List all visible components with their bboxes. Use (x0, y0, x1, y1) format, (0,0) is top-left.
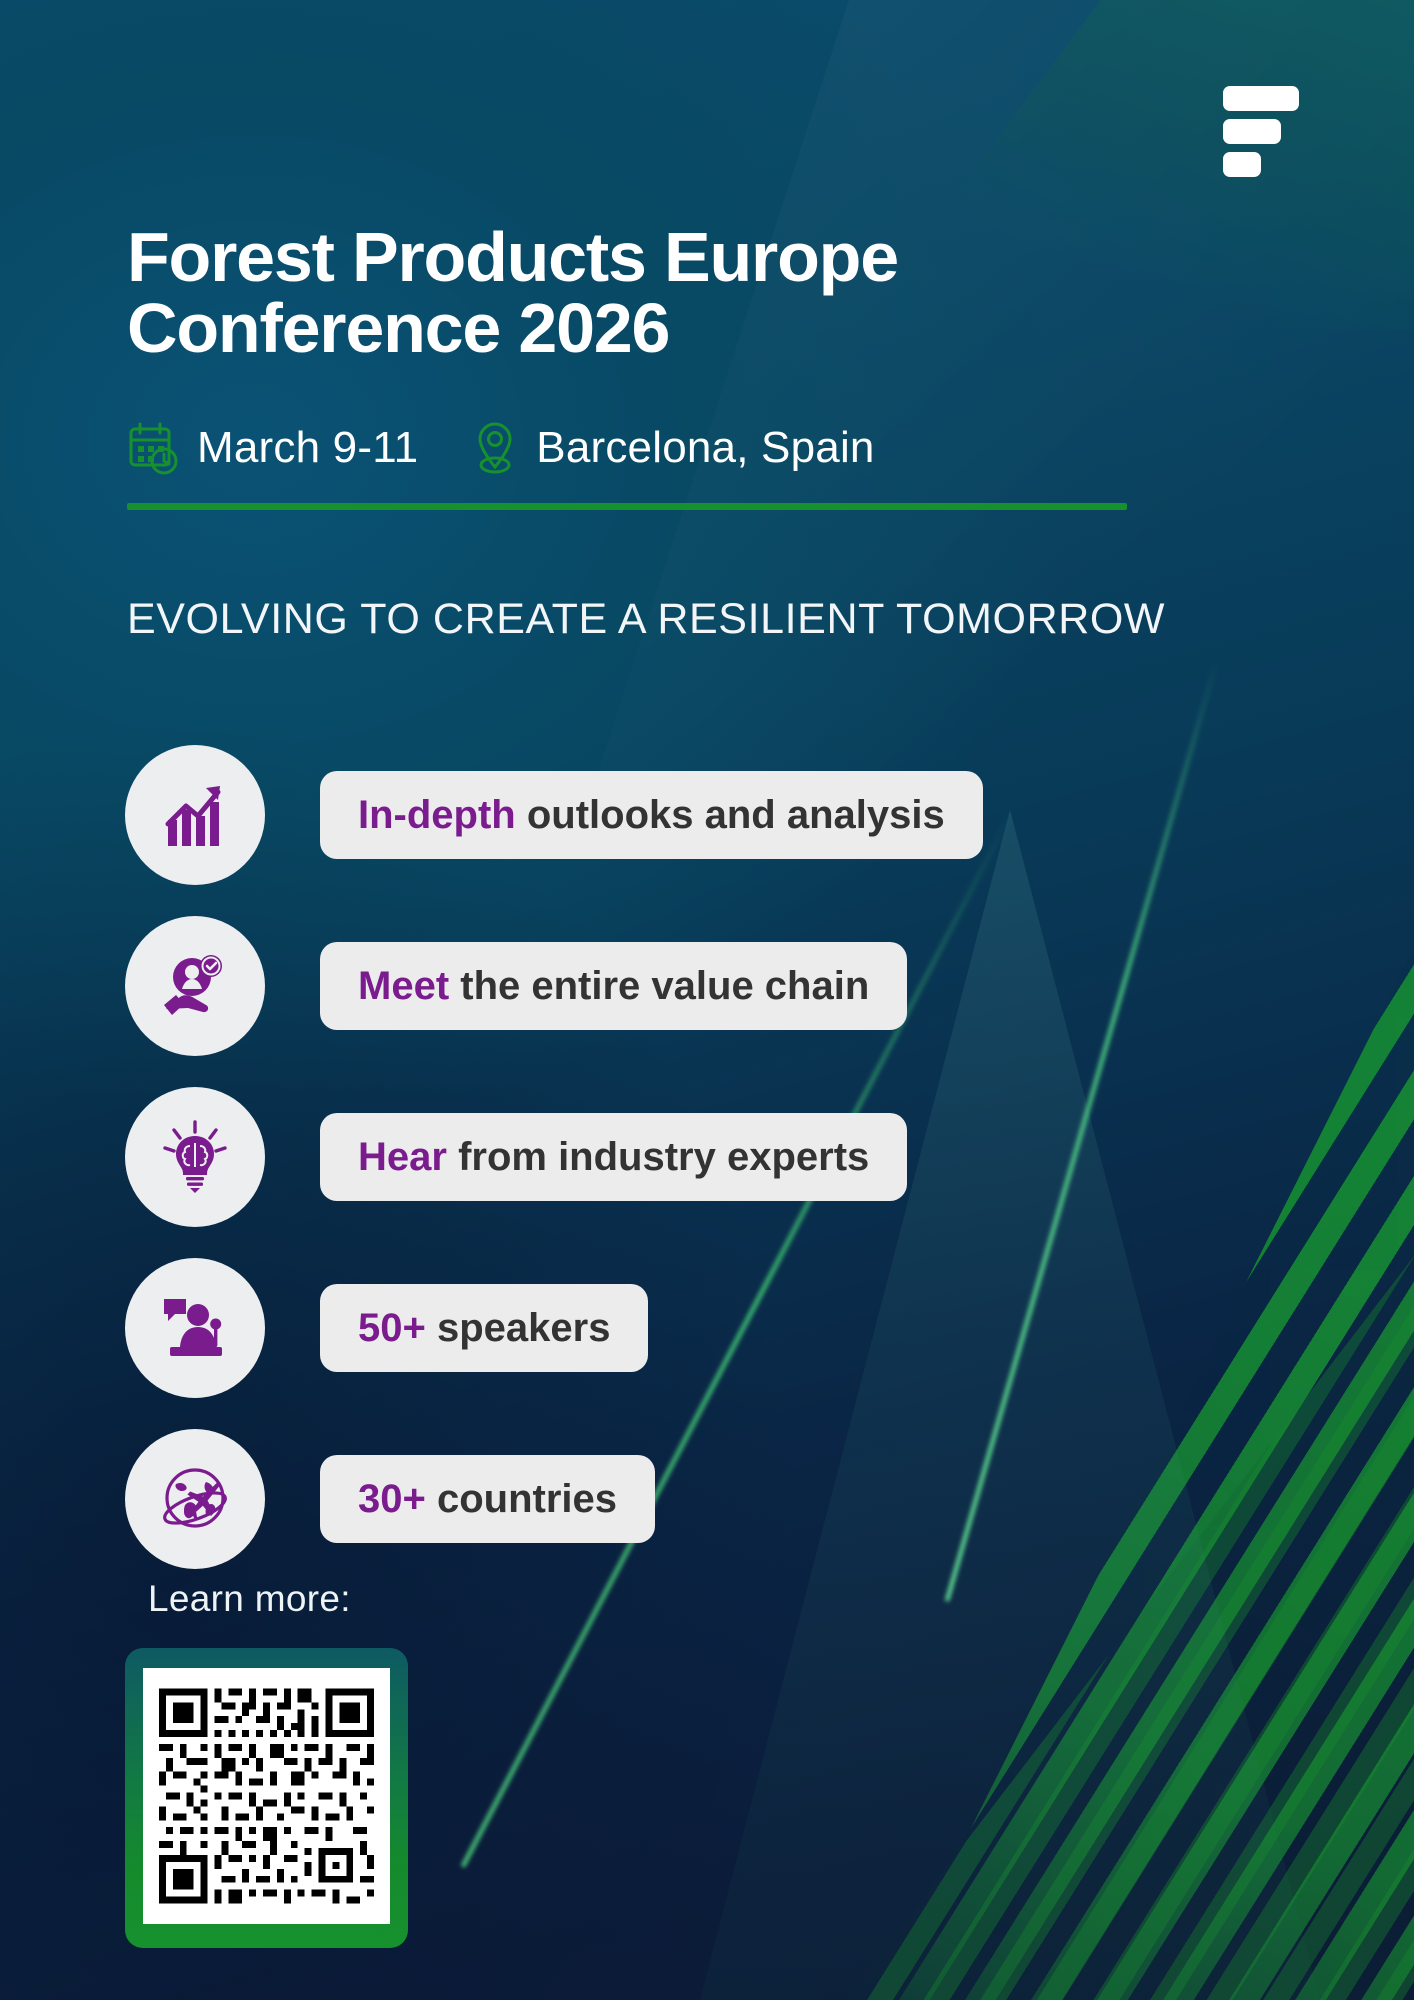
feature-highlight: 30+ (358, 1477, 426, 1521)
event-location: Barcelona, Spain (472, 420, 874, 476)
list-item: In-depth outlooks and analysis (125, 745, 983, 885)
conference-poster: Forest Products Europe Conference 2026 (0, 0, 1414, 2000)
speaker-podium-icon (156, 1289, 234, 1367)
title-line-1: Forest Products Europe (127, 218, 898, 296)
feature-pill: 30+ countries (320, 1455, 655, 1544)
qr-code-icon[interactable] (143, 1668, 390, 1924)
event-date: March 9-11 (127, 421, 418, 475)
feature-text: speakers (426, 1306, 611, 1350)
feature-icon-badge (125, 745, 265, 885)
feature-pill: In-depth outlooks and analysis (320, 771, 983, 860)
tagline: EVOLVING TO CREATE A RESILIENT TOMORROW (127, 595, 1165, 644)
green-divider (127, 503, 1127, 510)
logo-bar-middle (1223, 119, 1281, 144)
globe-airplane-icon (156, 1460, 234, 1538)
lightbulb-brain-icon (156, 1118, 234, 1196)
hand-person-check-icon (156, 947, 234, 1025)
feature-pill: 50+ speakers (320, 1284, 648, 1373)
list-item: Meet the entire value chain (125, 916, 983, 1056)
list-item: 30+ countries (125, 1429, 983, 1569)
location-pin-icon (472, 420, 518, 476)
feature-icon-badge (125, 1087, 265, 1227)
logo-bar-top (1223, 86, 1299, 111)
feature-text: outlooks and analysis (516, 793, 945, 837)
event-location-label: Barcelona, Spain (536, 423, 874, 473)
feature-icon-badge (125, 916, 265, 1056)
f-logo-icon (1223, 86, 1299, 170)
feature-icon-badge (125, 1429, 265, 1569)
feature-highlight: Meet (358, 964, 449, 1008)
event-meta: March 9-11 Barcelona, Spain (127, 420, 875, 476)
feature-highlight: In-depth (358, 793, 516, 837)
feature-highlight: Hear (358, 1135, 447, 1179)
feature-pill: Hear from industry experts (320, 1113, 907, 1202)
page-title: Forest Products Europe Conference 2026 (127, 222, 1137, 365)
feature-highlight: 50+ (358, 1306, 426, 1350)
calendar-clock-icon (127, 421, 179, 475)
list-item: Hear from industry experts (125, 1087, 983, 1227)
feature-icon-badge (125, 1258, 265, 1398)
triangle-glow-edge-left (945, 658, 1219, 1601)
feature-pill: Meet the entire value chain (320, 942, 907, 1031)
qr-code-matrix (152, 1677, 381, 1915)
qr-code-frame[interactable] (125, 1648, 408, 1948)
growth-chart-icon (156, 776, 234, 854)
feature-text: from industry experts (447, 1135, 869, 1179)
list-item: 50+ speakers (125, 1258, 983, 1398)
feature-text: countries (426, 1477, 617, 1521)
feature-text: the entire value chain (449, 964, 869, 1008)
title-line-2: Conference 2026 (127, 289, 669, 367)
feature-list: In-depth outlooks and analysis (125, 745, 983, 1600)
logo-bar-bottom (1223, 152, 1261, 177)
event-date-label: March 9-11 (197, 423, 418, 473)
learn-more-label: Learn more: (148, 1578, 351, 1620)
